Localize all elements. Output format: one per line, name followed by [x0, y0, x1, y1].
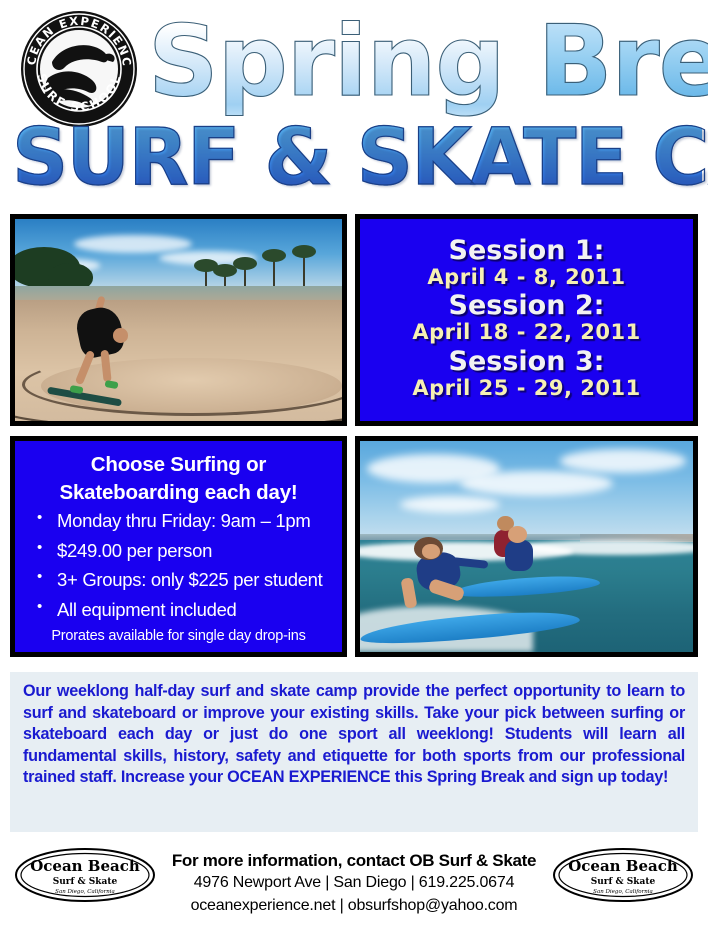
student-face [422, 544, 439, 558]
panel-row-bottom: Choose Surfing or Skateboarding each day… [0, 436, 708, 657]
headline-word-spring: Spring [148, 5, 505, 119]
camp-details-heading: Choose Surfing or Skateboarding each day… [23, 451, 334, 506]
ob-logo-subtitle: Surf & Skate [591, 877, 656, 887]
ob-logo-name: Ocean Beach [568, 857, 678, 875]
camp-details-panel: Choose Surfing or Skateboarding each day… [10, 436, 347, 657]
session-1-title: Session 1: [449, 237, 605, 264]
wave-icon [520, 540, 698, 555]
footer-address: 4976 Newport Ave | San Diego | 619.225.0… [156, 872, 552, 895]
skater-leg [100, 350, 111, 382]
sessions-panel: Session 1: April 4 - 8, 2011 Session 2: … [355, 214, 698, 426]
session-3-dates: April 25 - 29, 2011 [412, 377, 640, 399]
headline-surf-skate-camp: SURF & SKATE CAMP [12, 112, 702, 204]
list-item: $249.00 per person [27, 542, 334, 561]
ocean-beach-surf-skate-logo-left: Ocean Beach Surf & Skate San Diego, Cali… [14, 846, 156, 904]
student-leg [428, 578, 465, 602]
flyer-footer: Ocean Beach Surf & Skate San Diego, Cali… [0, 840, 708, 930]
cloud-icon [400, 496, 500, 513]
ocean-beach-surf-skate-logo-right: Ocean Beach Surf & Skate San Diego, Cali… [552, 846, 694, 904]
surf-student-figure [493, 521, 546, 584]
ob-logo-script: San Diego, California [55, 889, 115, 895]
camp-description-text: Our weeklong half-day surf and skate cam… [10, 672, 698, 832]
cloud-icon [460, 471, 613, 496]
skateboarder-figure [64, 304, 142, 397]
panel-grid: Session 1: April 4 - 8, 2011 Session 2: … [0, 214, 708, 657]
ob-logo-subtitle: Surf & Skate [53, 877, 118, 887]
list-item: 3+ Groups: only $225 per student [27, 571, 334, 590]
panel-row-top: Session 1: April 4 - 8, 2011 Session 2: … [0, 214, 708, 426]
headline-word-break: Break [538, 5, 708, 119]
session-2-title: Session 2: [449, 292, 605, 319]
session-2-dates: April 18 - 22, 2011 [412, 321, 640, 343]
skate-photo [10, 214, 347, 426]
list-item: All equipment included [27, 601, 334, 620]
ob-logo-script: San Diego, California [593, 889, 653, 895]
flyer-page: OCEAN EXPERIENCE SURF SCHOOL Spring Brea… [0, 0, 708, 930]
skater-shoe [104, 380, 118, 389]
flyer-header: OCEAN EXPERIENCE SURF SCHOOL Spring Brea… [0, 0, 708, 212]
prorate-note: Prorates available for single day drop-i… [23, 628, 334, 644]
camp-details-heading-line1: Choose Surfing or [23, 451, 334, 479]
footer-contact-heading: For more information, contact OB Surf & … [156, 850, 552, 872]
student-arm [401, 577, 418, 609]
cloud-icon [560, 449, 687, 472]
student-torso [505, 540, 533, 570]
session-1-dates: April 4 - 8, 2011 [427, 266, 625, 288]
skate-bowl-lip-outer [10, 373, 347, 427]
skater-head [113, 328, 129, 343]
camp-details-heading-line2: Skateboarding each day! [23, 479, 334, 507]
skater-leg [75, 350, 95, 386]
surf-photo [355, 436, 698, 657]
list-item: Monday thru Friday: 9am – 1pm [27, 512, 334, 531]
camp-details-list: Monday thru Friday: 9am – 1pm $249.00 pe… [23, 512, 334, 619]
session-3-title: Session 3: [449, 348, 605, 375]
surf-foreground-student-figure [400, 534, 487, 623]
student-head [508, 526, 527, 542]
footer-contact-block: For more information, contact OB Surf & … [156, 846, 552, 918]
headline-spring-break: Spring Break [148, 6, 704, 118]
footer-web-email[interactable]: oceanexperience.net | obsurfshop@yahoo.c… [156, 895, 552, 918]
ob-logo-name: Ocean Beach [30, 857, 140, 875]
